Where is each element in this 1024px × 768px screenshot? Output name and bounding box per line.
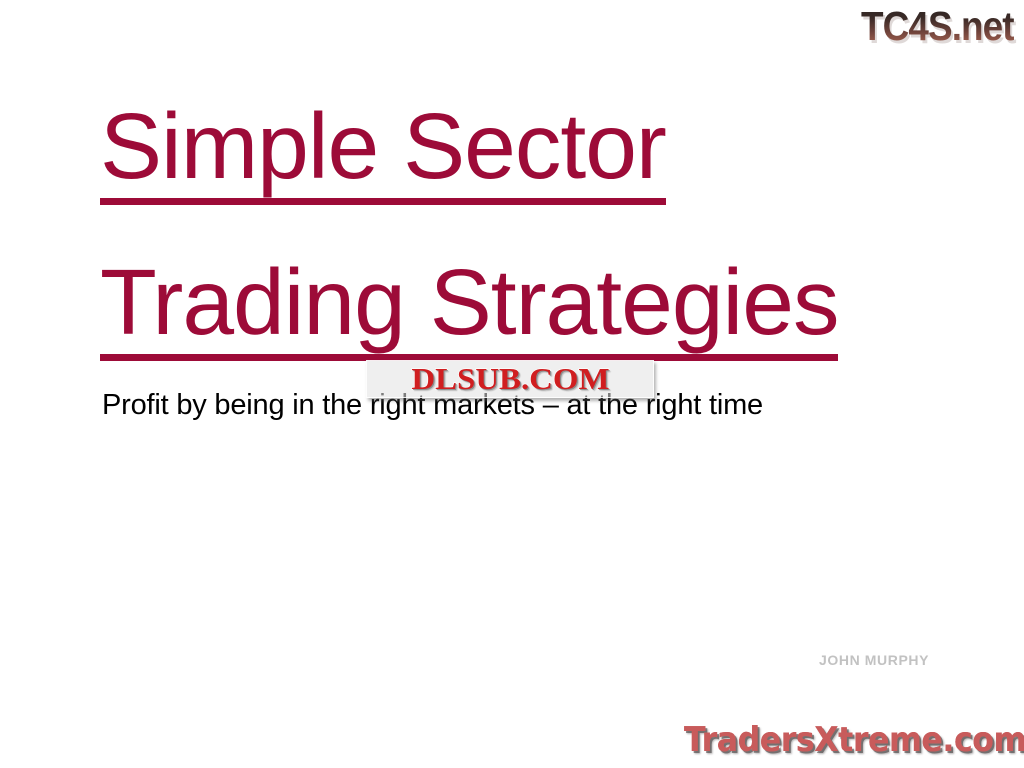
title-row-2: Trading Strategies — [100, 252, 930, 361]
page-title-line-2: Trading Strategies — [100, 252, 838, 361]
author-credit: JOHN MURPHY — [819, 651, 929, 669]
dlsub-com-watermark: DLSUB.COM — [411, 363, 609, 395]
tc4s-net-watermark: TC4S.net — [861, 4, 1014, 48]
dlsub-watermark-box: DLSUB.COM — [366, 360, 654, 398]
tradersxtreme-watermark-outline: TradersXtreme.com — [684, 719, 1024, 761]
title-row-1: Simple Sector — [100, 96, 930, 205]
page-title-line-1: Simple Sector — [100, 96, 666, 205]
slide-title-block: Simple Sector Trading Strategies — [100, 96, 930, 361]
presentation-slide: TC4S.net TC4S.net Simple Sector Trading … — [0, 0, 1024, 768]
